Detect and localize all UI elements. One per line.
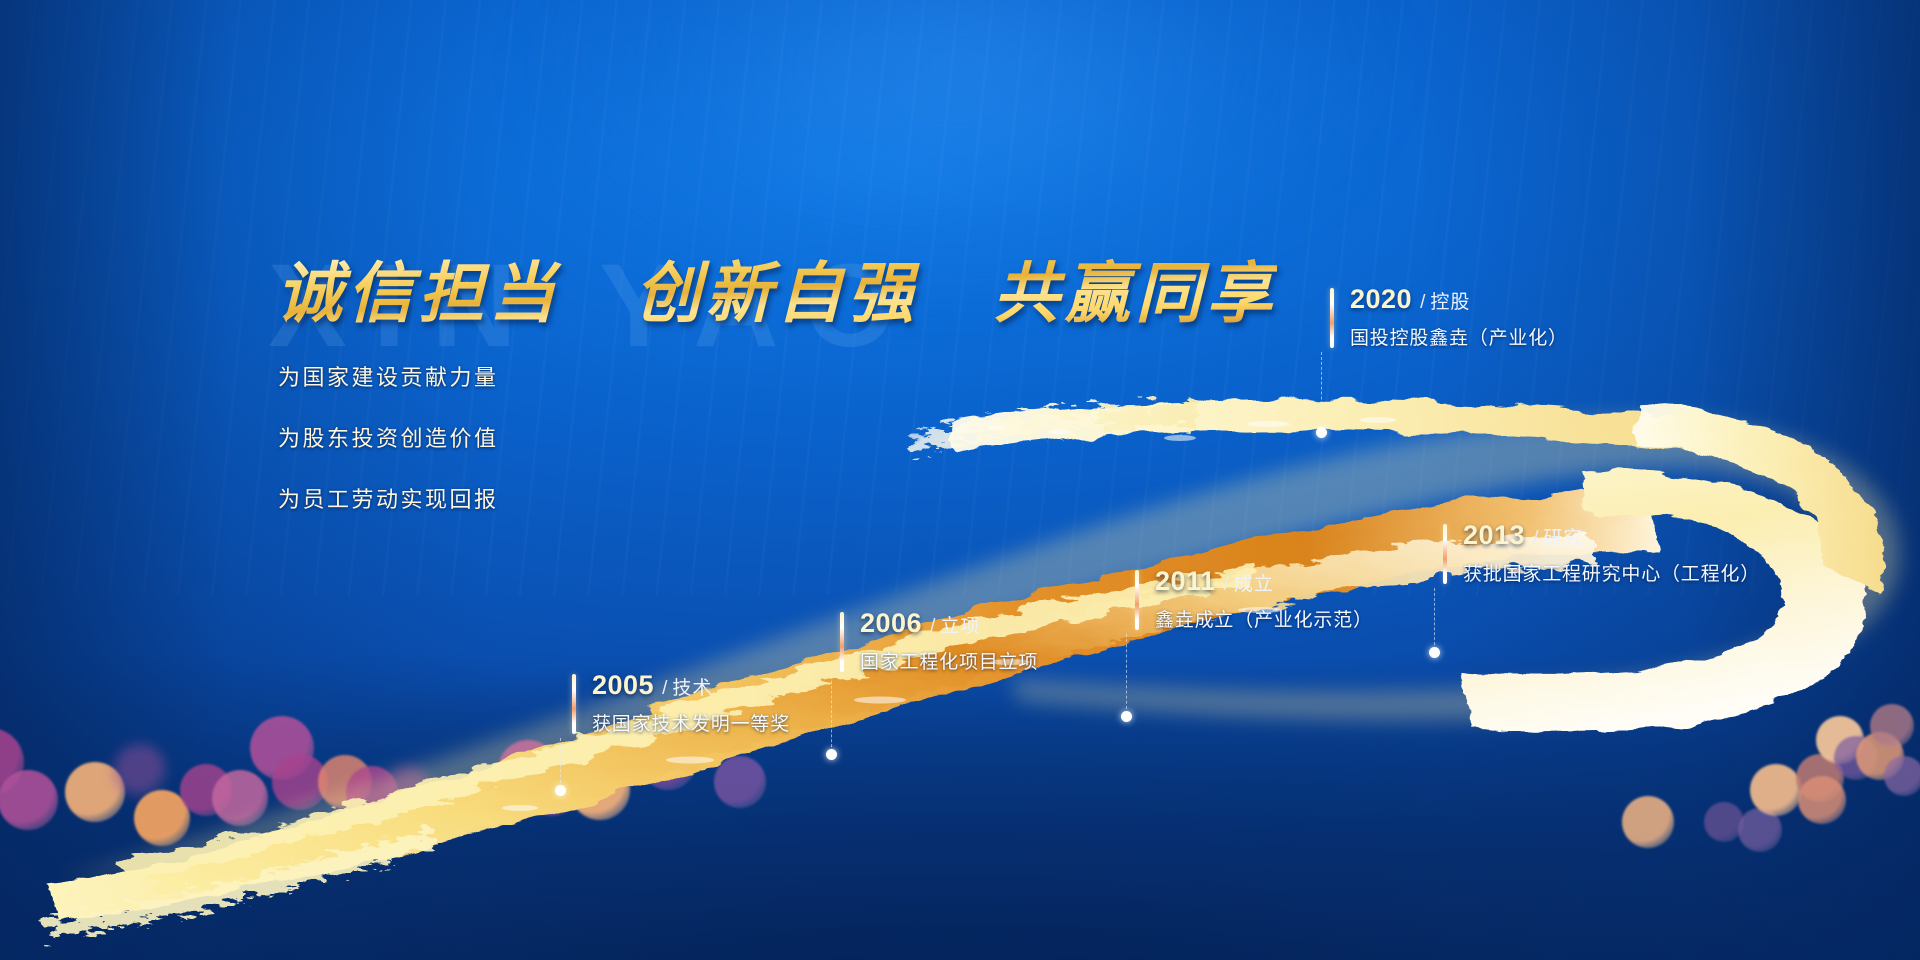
timeline-heading: 2020/控股	[1350, 286, 1568, 313]
headline-part-3: 共赢同享	[993, 256, 1277, 330]
timeline-heading: 2005/技术	[592, 672, 790, 699]
hero-banner: XIN YAO 诚信担当 创新自强 共赢同享 为国家建设贡献力量 为股东投资创造…	[0, 0, 1920, 960]
creed-line: 为股东投资创造价值	[278, 421, 678, 453]
timeline-connector-line	[1321, 352, 1322, 434]
timeline-tag: 技术	[672, 678, 712, 699]
bokeh-circle	[212, 770, 268, 826]
creed-line: 为国家建设贡献力量	[278, 360, 678, 392]
timeline-accent-bar	[1330, 288, 1334, 348]
bokeh-circle	[386, 766, 430, 810]
timeline-description: 鑫垚成立（产业化示范）	[1155, 605, 1373, 632]
timeline-accent-bar	[840, 612, 844, 672]
timeline-separator: /	[1224, 574, 1229, 595]
timeline-marker-dot[interactable]	[1429, 647, 1440, 658]
timeline-year: 2005	[592, 670, 654, 700]
timeline-description: 获国家技术发明一等奖	[592, 709, 790, 736]
creed-line: 为员工劳动实现回报	[278, 482, 678, 514]
timeline-text: 2006/立项国家工程化项目立项	[860, 610, 1038, 674]
timeline-text: 2020/控股国投控股鑫垚（产业化）	[1350, 286, 1568, 350]
timeline-marker-dot[interactable]	[555, 785, 566, 796]
timeline-description: 国投控股鑫垚（产业化）	[1350, 323, 1568, 350]
timeline-tag: 研究	[1543, 528, 1583, 549]
timeline-separator: /	[1533, 528, 1538, 549]
headline-part-1: 诚信担当	[276, 256, 560, 330]
bokeh-circle	[1884, 756, 1920, 796]
bokeh-circle	[640, 734, 696, 790]
timeline-connector-line	[1126, 634, 1127, 714]
timeline-heading: 2011/成立	[1155, 568, 1373, 595]
page-title: 诚信担当 创新自强 共赢同享	[276, 240, 1277, 336]
bokeh-circle	[114, 744, 166, 796]
timeline-year: 2006	[860, 608, 922, 638]
creed-list: 为国家建设贡献力量 为股东投资创造价值 为员工劳动实现回报	[278, 360, 678, 543]
timeline-accent-bar	[1135, 570, 1139, 630]
bokeh-circle	[1798, 776, 1846, 824]
timeline-accent-bar	[1443, 524, 1447, 584]
timeline-tag: 控股	[1430, 292, 1470, 313]
timeline-year: 2020	[1350, 284, 1412, 314]
timeline-description: 获批国家工程研究中心（工程化）	[1463, 559, 1760, 586]
bokeh-circle	[1870, 704, 1914, 748]
headline-part-2: 创新自强	[635, 256, 919, 330]
timeline-tag: 立项	[940, 616, 980, 637]
timeline-marker-dot[interactable]	[1121, 711, 1132, 722]
bokeh-circle	[1750, 764, 1802, 816]
bokeh-circle	[0, 770, 58, 830]
timeline-separator: /	[662, 678, 667, 699]
timeline-year: 2013	[1463, 520, 1525, 550]
timeline-connector-line	[1434, 588, 1435, 650]
timeline-separator: /	[1420, 292, 1425, 313]
bokeh-circle	[570, 760, 630, 820]
timeline-separator: /	[930, 616, 935, 637]
timeline-tag: 成立	[1234, 574, 1274, 595]
timeline-accent-bar	[572, 674, 576, 734]
timeline-description: 国家工程化项目立项	[860, 647, 1038, 674]
bokeh-circle	[1622, 796, 1674, 848]
timeline-heading: 2006/立项	[860, 610, 1038, 637]
timeline-text: 2013/研究获批国家工程研究中心（工程化）	[1463, 522, 1760, 586]
bokeh-circle	[714, 756, 766, 808]
timeline-heading: 2013/研究	[1463, 522, 1760, 549]
timeline-connector-line	[560, 738, 561, 788]
timeline-text: 2005/技术获国家技术发明一等奖	[592, 672, 790, 736]
timeline-year: 2011	[1155, 566, 1216, 596]
timeline-connector-line	[831, 676, 832, 752]
timeline-text: 2011/成立鑫垚成立（产业化示范）	[1155, 568, 1373, 632]
timeline-marker-dot[interactable]	[826, 749, 837, 760]
timeline-marker-dot[interactable]	[1316, 427, 1327, 438]
